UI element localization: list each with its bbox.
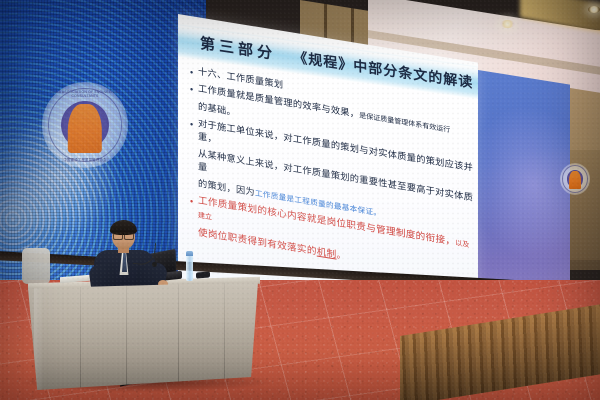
text-run: 。 — [337, 250, 347, 263]
microphone-capsule-icon — [152, 262, 157, 267]
association-logo-left: CHINA ASSOCIATION OF ENGINEERING CONSULT… — [42, 82, 128, 168]
bullet-dot-icon: • — [190, 116, 198, 143]
cloth-fold — [80, 282, 81, 390]
water-bottle-cap — [186, 251, 193, 256]
logo-building-mark-icon — [68, 104, 102, 152]
text-run: 的基础。 — [198, 101, 236, 118]
desk-device — [196, 271, 210, 278]
logo-bottom-text: 中国建设工程质量管理协会 — [42, 157, 128, 162]
slide-bullet-text: 的基础。 — [198, 100, 236, 119]
cloth-fold — [178, 282, 179, 390]
bullet-indent — [190, 99, 198, 113]
water-bottle — [186, 255, 193, 281]
bullet-dot-icon: • — [190, 81, 198, 96]
glasses-icon — [113, 232, 134, 238]
cloth-fold — [126, 282, 127, 390]
logo-top-text: CHINA ASSOCIATION OF ENGINEERING CONSULT… — [42, 90, 128, 98]
conference-photo: CHINA ASSOCIATION OF ENGINEERING CONSULT… — [0, 0, 600, 400]
presenter — [86, 222, 172, 292]
bullet-indent — [190, 146, 198, 173]
slide-bullet-list: •十六、工作质量策划•工作质量就是质量管理的效率与效果，是保证质量管理体系有效运… — [190, 64, 475, 288]
chair — [22, 248, 50, 284]
cloth-fold — [224, 282, 225, 390]
bullet-indent — [190, 176, 198, 190]
bullet-dot-icon: • — [190, 64, 198, 78]
table-skirt-cloth — [28, 282, 258, 390]
ceiling-downlight-icon — [588, 6, 600, 13]
text-run: 机制 — [317, 246, 337, 260]
logo-building-mark-icon — [569, 171, 581, 189]
association-logo-right — [560, 163, 590, 195]
bullet-dot-icon: • — [190, 193, 198, 222]
bullet-indent — [190, 225, 198, 239]
ceiling-downlight-icon — [500, 20, 515, 28]
